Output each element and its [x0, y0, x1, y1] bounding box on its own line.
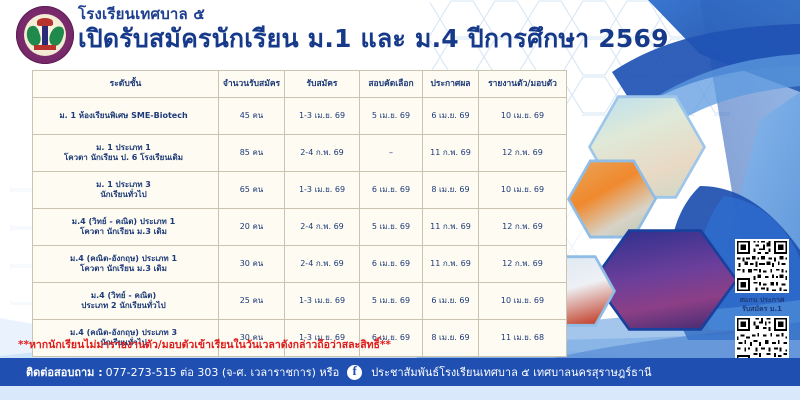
table-row: ม. 1 ประเภท 1โควตา นักเรียน ป. 6 โรงเรีย…	[33, 135, 567, 172]
facebook-icon[interactable]	[347, 365, 362, 380]
table-row-level: ม.4 (คณิต-อังกฤษ) ประเภท 1โควตา นักเรียน…	[33, 246, 219, 283]
table-row-report: 10 เม.ย. 69	[479, 172, 567, 209]
contact-label: ติดต่อสอบถาม :	[26, 363, 103, 381]
table-row-level: ม. 1 ประเภท 1โควตา นักเรียน ป. 6 โรงเรีย…	[33, 135, 219, 172]
table-row-exam: 5 เม.ย. 69	[360, 209, 423, 246]
table-row-quota: 65 คน	[219, 172, 285, 209]
table-row-apply: 2-4 ก.พ. 69	[285, 135, 360, 172]
table-row-exam: –	[360, 135, 423, 172]
table-row-quota: 25 คน	[219, 283, 285, 320]
col-header-level: ระดับชั้น	[33, 71, 219, 98]
table-row-quota: 85 คน	[219, 135, 285, 172]
table-row-level: ม.4 (วิทย์ - คณิต)ประเภท 2 นักเรียนทั่วไ…	[33, 283, 219, 320]
table-row-quota: 30 คน	[219, 246, 285, 283]
table-row-report: 10 เม.ย. 69	[479, 283, 567, 320]
table-row-apply: 2-4 ก.พ. 69	[285, 246, 360, 283]
table-row-report: 12 ก.พ. 69	[479, 246, 567, 283]
col-header-result: ประกาศผล	[423, 71, 479, 98]
table-head: ระดับชั้น จำนวนรับสมัคร รับสมัคร สอบคัดเ…	[33, 71, 567, 98]
qr-m1-caption-line1: สแกน ประกาศ	[740, 296, 785, 304]
emblem-inner	[24, 14, 66, 56]
title-block: โรงเรียนเทศบาล ๕ เปิดรับสมัครนักเรียน ม.…	[78, 5, 669, 54]
table-header-row: ระดับชั้น จำนวนรับสมัคร รับสมัคร สอบคัดเ…	[33, 71, 567, 98]
photo-students-activity-image	[570, 160, 654, 238]
qr-m1-caption: สแกน ประกาศ รับสมัคร ม.1	[724, 296, 800, 314]
emblem-base	[34, 45, 56, 50]
bottom-strip	[0, 386, 800, 400]
table-row-level: ม. 1 ประเภท 3นักเรียนทั่วไป	[33, 172, 219, 209]
table-row-result: 6 เม.ย. 69	[423, 283, 479, 320]
col-header-report: รายงานตัว/มอบตัว	[479, 71, 567, 98]
table-body: ม. 1 ห้องเรียนพิเศษ SME-Biotech45 คน1-3 …	[33, 98, 567, 357]
table-row-quota: 45 คน	[219, 98, 285, 135]
table-row-apply: 1-3 เม.ย. 69	[285, 98, 360, 135]
qr-m1[interactable]	[735, 239, 789, 293]
col-header-apply: รับสมัคร	[285, 71, 360, 98]
table-row-report: 12 ก.พ. 69	[479, 209, 567, 246]
emblem-torch	[42, 22, 48, 46]
schedule-table: ระดับชั้น จำนวนรับสมัคร รับสมัคร สอบคัดเ…	[32, 70, 567, 357]
footnote-warning: **หากนักเรียนไม่มารายงานตัว/มอบตัวเข้าเร…	[0, 336, 800, 353]
table-row-quota: 20 คน	[219, 209, 285, 246]
table-row-level: ม. 1 ห้องเรียนพิเศษ SME-Biotech	[33, 98, 219, 135]
facebook-page-name[interactable]: ประชาสัมพันธ์โรงเรียนเทศบาล ๕ เทศบาลนครส…	[371, 363, 651, 381]
table-row: ม.4 (วิทย์ - คณิต)ประเภท 2 นักเรียนทั่วไ…	[33, 283, 567, 320]
contact-bar: ติดต่อสอบถาม : 077-273-515 ต่อ 303 (จ-ศ.…	[0, 358, 800, 386]
table-row-apply: 2-4 ก.พ. 69	[285, 209, 360, 246]
table-row-exam: 6 เม.ย. 69	[360, 172, 423, 209]
table-row-result: 11 ก.พ. 69	[423, 246, 479, 283]
table-row-report: 12 ก.พ. 69	[479, 135, 567, 172]
table-row-result: 11 ก.พ. 69	[423, 209, 479, 246]
table-row: ม.4 (คณิต-อังกฤษ) ประเภท 1โควตา นักเรียน…	[33, 246, 567, 283]
table-row: ม. 1 ห้องเรียนพิเศษ SME-Biotech45 คน1-3 …	[33, 98, 567, 135]
admission-schedule-table: ระดับชั้น จำนวนรับสมัคร รับสมัคร สอบคัดเ…	[32, 70, 526, 357]
table-row: ม.4 (วิทย์ - คณิต) ประเภท 1โควตา นักเรีย…	[33, 209, 567, 246]
contact-phone: 077-273-515 ต่อ 303 (จ-ศ. เวลาราชการ) หร…	[106, 363, 340, 381]
school-emblem-icon	[16, 6, 74, 64]
table-row-report: 10 เม.ย. 69	[479, 98, 567, 135]
qr-m1-image	[735, 239, 789, 293]
poster-header: โรงเรียนเทศบาล ๕ เปิดรับสมัครนักเรียน ม.…	[0, 0, 800, 68]
table-row-apply: 1-3 เม.ย. 69	[285, 283, 360, 320]
poster-root: โรงเรียนเทศบาล ๕ เปิดรับสมัครนักเรียน ม.…	[0, 0, 800, 400]
table-row-result: 8 เม.ย. 69	[423, 172, 479, 209]
table-row-result: 11 ก.พ. 69	[423, 135, 479, 172]
table-row: ม. 1 ประเภท 3นักเรียนทั่วไป65 คน1-3 เม.ย…	[33, 172, 567, 209]
table-row-result: 6 เม.ย. 69	[423, 98, 479, 135]
table-row-exam: 5 เม.ย. 69	[360, 98, 423, 135]
qr-m1-caption-line2: รับสมัคร ม.1	[742, 305, 782, 313]
table-row-exam: 5 เม.ย. 69	[360, 283, 423, 320]
table-row-apply: 1-3 เม.ย. 69	[285, 172, 360, 209]
table-row-exam: 6 เม.ย. 69	[360, 246, 423, 283]
col-header-quota: จำนวนรับสมัคร	[219, 71, 285, 98]
school-name: โรงเรียนเทศบาล ๕	[78, 5, 669, 23]
table-row-level: ม.4 (วิทย์ - คณิต) ประเภท 1โควตา นักเรีย…	[33, 209, 219, 246]
col-header-exam: สอบคัดเลือก	[360, 71, 423, 98]
page-title: เปิดรับสมัครนักเรียน ม.1 และ ม.4 ปีการศึ…	[78, 24, 669, 54]
